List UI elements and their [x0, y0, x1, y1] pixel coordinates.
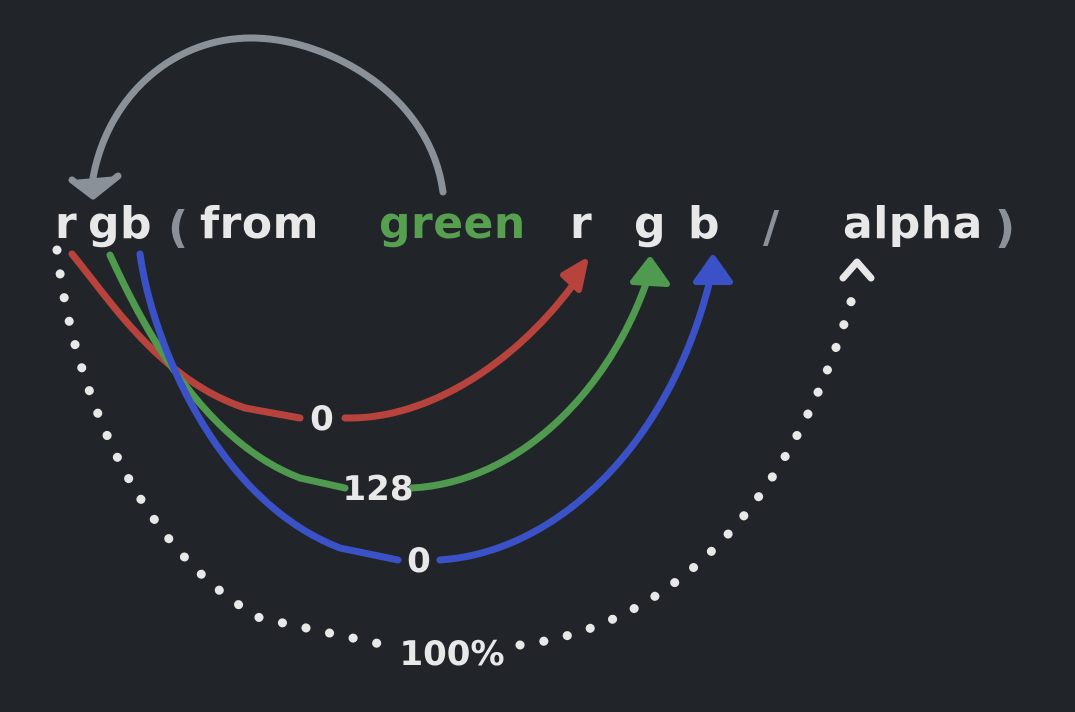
token-out-b: b — [688, 198, 720, 249]
token-out-r: r — [570, 198, 592, 249]
token-keyword-from: from — [200, 198, 319, 249]
value-label-blue: 0 — [407, 541, 431, 581]
value-label-green: 128 — [343, 469, 414, 509]
value-label-red: 0 — [310, 399, 334, 439]
token-slash: / — [763, 202, 780, 253]
value-label-alpha: 100% — [399, 634, 504, 674]
token-paren-open: ( — [168, 202, 189, 253]
from-origin-arrow — [72, 38, 443, 196]
channel-curve-alpha — [57, 250, 871, 645]
diagram-canvas: r g b ( from green r g b / alpha ) 0 128… — [0, 0, 1075, 712]
token-fn-g: g — [88, 198, 120, 249]
channel-curve-green — [110, 255, 667, 488]
relative-color-syntax-diagram: r g b ( from green r g b / alpha ) 0 128… — [0, 0, 1075, 712]
token-paren-close: ) — [995, 202, 1016, 253]
token-color-green: green — [379, 198, 526, 249]
token-keyword-alpha: alpha — [843, 198, 983, 249]
token-out-g: g — [634, 198, 666, 249]
token-fn-b: b — [120, 198, 152, 249]
token-fn-r: r — [55, 198, 77, 249]
